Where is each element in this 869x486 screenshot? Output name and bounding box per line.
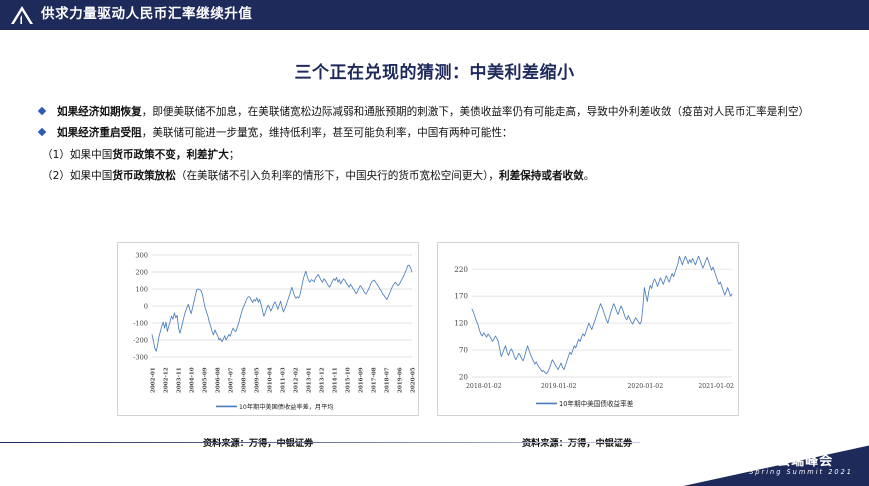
svg-text:20: 20 [459,373,469,382]
svg-text:300: 300 [135,252,148,260]
alpha-peak-icon [9,4,35,26]
page-title: 三个正在兑现的猜测：中美利差缩小 [0,58,869,83]
svg-text:2002-12: 2002-12 [164,367,170,393]
bullet-item: 如果经济重启受阻，美联储可能进一步量宽，维持低利率，甚至可能负利率，中国有两种可… [30,125,842,141]
svg-text:2008-06: 2008-06 [242,367,248,393]
numbered-bold: 货币政策放松 [112,170,176,182]
svg-text:-100: -100 [133,320,148,328]
svg-text:2012-02: 2012-02 [294,367,300,393]
svg-text:2011-03: 2011-03 [281,367,287,393]
numbered-bold: 货币政策不变，利差扩大 [112,149,229,161]
svg-text:2020-05: 2020-05 [411,367,417,393]
svg-text:2013-01: 2013-01 [307,367,313,393]
summit-brand: Alpha 春季云端峰会 Spring Summit 2021 [675,455,853,478]
svg-text:2002-01: 2002-01 [151,367,157,393]
bullet-lead: 如果经济重启受阻 [57,127,142,139]
bullet-rest: ，美联储可能进一步量宽，维持低利率，甚至可能负利率，中国有两种可能性： [142,127,513,139]
brand-alpha: Alpha [675,456,743,478]
svg-text:200: 200 [135,269,148,277]
svg-text:220: 220 [454,265,468,274]
chart-right-svg: 20701201702202018-01-022019-01-022020-01… [438,243,738,415]
svg-text:2016-09: 2016-09 [359,367,365,393]
svg-text:100: 100 [135,286,148,294]
svg-text:120: 120 [454,319,468,328]
slide-header: 供求力量驱动人民币汇率继续升值 [0,0,869,30]
svg-text:2006-08: 2006-08 [216,367,222,393]
numbered-item: （1）如果中国货币政策不变，利差扩大； [42,147,842,163]
bullet-item: 如果经济如期恢复，即便美联储不加息，在美联储宽松边际减弱和通胀预期的刺激下，美债… [30,104,842,120]
numbered-pre: （1）如果中国 [42,149,112,161]
svg-text:2005-09: 2005-09 [203,367,209,393]
content-body: 如果经济如期恢复，即便美联储不加息，在美联储宽松边际减弱和通胀预期的刺激下，美债… [30,104,842,189]
svg-text:10年期中美国债收益率差: 10年期中美国债收益率差 [559,399,634,408]
footer-divider [0,442,640,443]
svg-text:2015-10: 2015-10 [346,367,352,393]
svg-text:2018-01-02: 2018-01-02 [466,383,502,390]
brand-cn-sub: Spring Summit 2021 [749,469,853,477]
svg-text:-300: -300 [133,354,148,362]
svg-text:170: 170 [454,292,468,301]
svg-text:2003-11: 2003-11 [177,367,183,393]
diamond-bullet-icon [38,128,46,136]
bullet-text: 如果经济如期恢复，即便美联储不加息，在美联储宽松边际减弱和通胀预期的刺激下，美债… [57,104,842,120]
svg-text:2021-01-02: 2021-01-02 [698,383,734,390]
brand-cn-block: 春季云端峰会 Spring Summit 2021 [749,455,853,478]
bullet-text: 如果经济重启受阻，美联储可能进一步量宽，维持低利率，甚至可能负利率，中国有两种可… [57,125,842,141]
svg-text:-200: -200 [133,337,148,345]
numbered-post: 。 [584,170,595,182]
chart-left-svg: -300-200-10001002003002002-012002-122003… [118,243,418,415]
svg-text:2013-12: 2013-12 [320,367,326,393]
header-title: 供求力量驱动人民币汇率继续升值 [41,8,253,22]
numbered-item: （2）如果中国货币政策放松（在美联储不引入负利率的情形下，中国央行的货币宽松空间… [42,168,842,184]
svg-text:70: 70 [459,346,469,355]
chart-right: 20701201702202018-01-022019-01-022020-01… [437,242,739,416]
brand-cn-main: 春季云端峰会 [749,455,833,469]
numbered-post: ； [229,149,240,161]
chart-left: -300-200-10001002003002002-012002-122003… [117,242,419,416]
bullet-lead: 如果经济如期恢复 [57,106,142,118]
svg-text:2020-01-02: 2020-01-02 [627,383,663,390]
diamond-bullet-icon [38,107,46,115]
numbered-bold-2: 利差保持或者收敛 [499,170,584,182]
svg-text:2019-06: 2019-06 [398,367,404,393]
svg-text:0: 0 [144,303,148,311]
svg-text:2010-04: 2010-04 [268,367,274,393]
svg-text:2007-07: 2007-07 [229,367,235,393]
svg-text:2004-10: 2004-10 [190,367,196,393]
svg-text:2014-11: 2014-11 [333,367,339,393]
svg-text:2018-07: 2018-07 [385,367,391,393]
svg-text:10年期中美国债收益率差，月平均: 10年期中美国债收益率差，月平均 [239,403,334,411]
slide-root: 供求力量驱动人民币汇率继续升值 三个正在兑现的猜测：中美利差缩小 如果经济如期恢… [0,0,869,486]
svg-text:2017-08: 2017-08 [372,367,378,393]
numbered-pre: （2）如果中国 [42,170,112,182]
svg-text:2019-01-02: 2019-01-02 [541,383,577,390]
bullet-rest: ，即便美联储不加息，在美联储宽松边际减弱和通胀预期的刺激下，美债收益率仍有可能走… [142,106,809,118]
numbered-mid: （在美联储不引入负利率的情形下，中国央行的货币宽松空间更大）， [176,170,499,182]
svg-text:2009-05: 2009-05 [255,367,261,393]
